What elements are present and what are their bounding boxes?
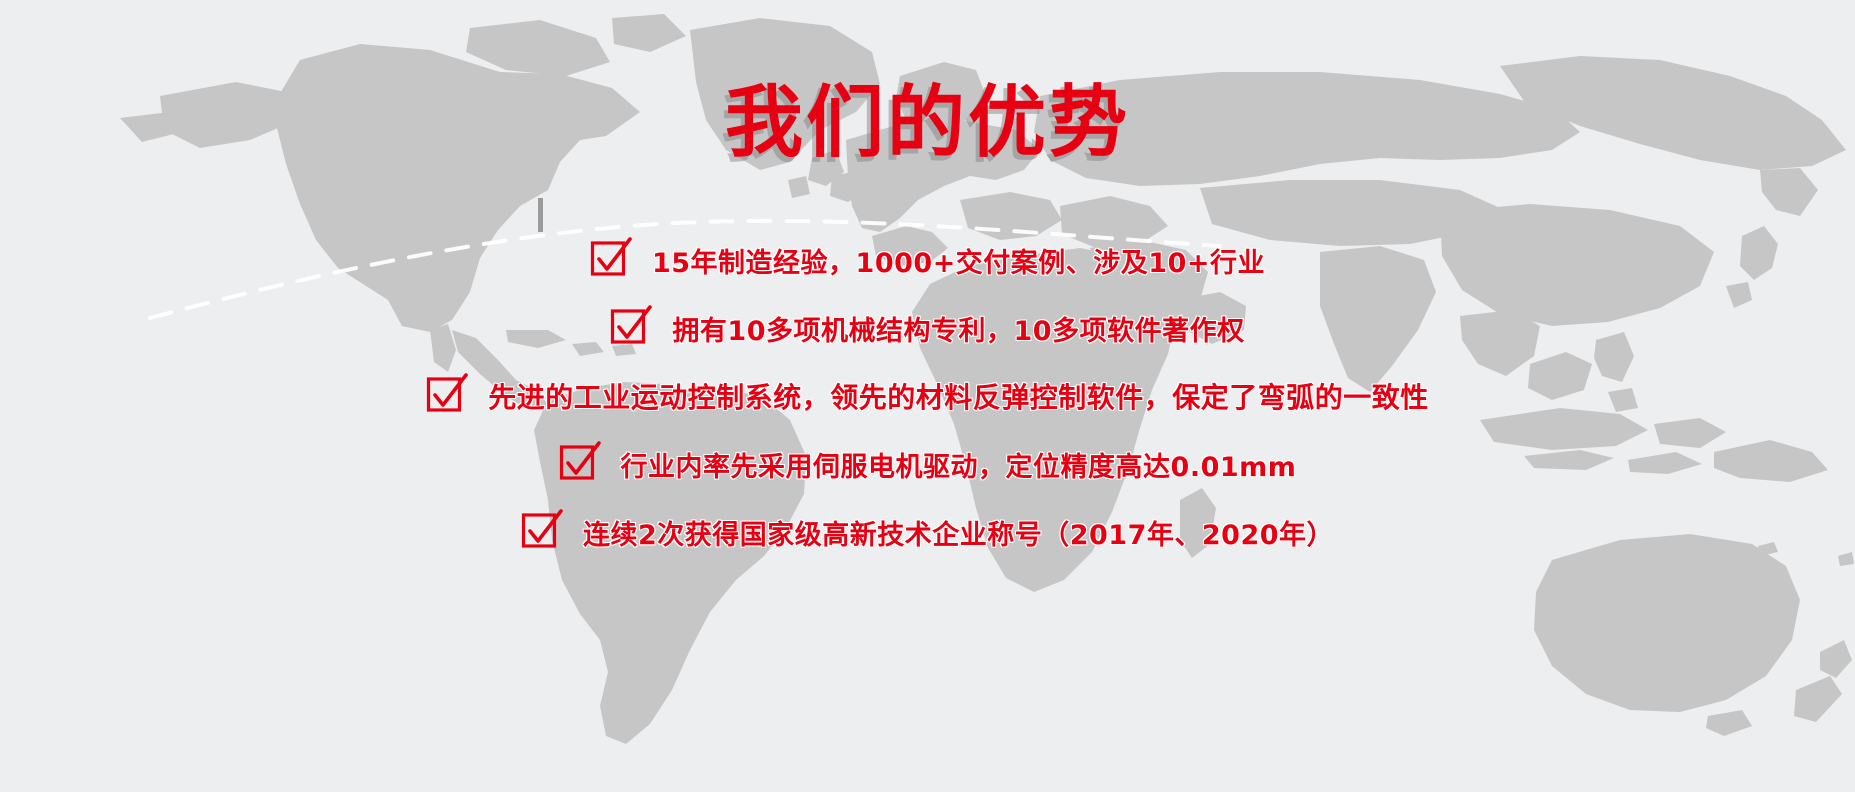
checkbox-checked-icon (590, 238, 630, 278)
advantage-item: 连续2次获得国家级高新技术企业称号（2017年、2020年） (521, 512, 1334, 552)
checkbox-checked-icon (521, 510, 561, 550)
advantage-text: 先进的工业运动控制系统，领先的材料反弹控制软件，保定了弯弧的一致性 (488, 376, 1429, 416)
advantages-banner: 我们的优势 15年制造经验，1000+交付案例、涉及10+行业 (0, 0, 1855, 792)
advantage-item: 先进的工业运动控制系统，领先的材料反弹控制软件，保定了弯弧的一致性 (426, 376, 1429, 416)
advantage-item: 行业内率先采用伺服电机驱动，定位精度高达0.01mm (559, 444, 1297, 484)
banner-content: 我们的优势 15年制造经验，1000+交付案例、涉及10+行业 (0, 0, 1855, 792)
advantage-text: 15年制造经验，1000+交付案例、涉及10+行业 (652, 241, 1265, 280)
advantage-text: 行业内率先采用伺服电机驱动，定位精度高达0.01mm (621, 445, 1297, 484)
checkbox-checked-icon (559, 442, 599, 482)
advantage-list: 15年制造经验，1000+交付案例、涉及10+行业 拥有10多项机械结构专利，1… (0, 240, 1855, 552)
advantage-item: 拥有10多项机械结构专利，10多项软件著作权 (610, 308, 1244, 348)
page-title: 我们的优势 (725, 84, 1130, 162)
advantage-text: 拥有10多项机械结构专利，10多项软件著作权 (672, 309, 1244, 348)
advantage-text: 连续2次获得国家级高新技术企业称号（2017年、2020年） (583, 513, 1334, 552)
checkbox-checked-icon (426, 374, 466, 414)
checkbox-checked-icon (610, 306, 650, 346)
advantage-item: 15年制造经验，1000+交付案例、涉及10+行业 (590, 240, 1265, 280)
